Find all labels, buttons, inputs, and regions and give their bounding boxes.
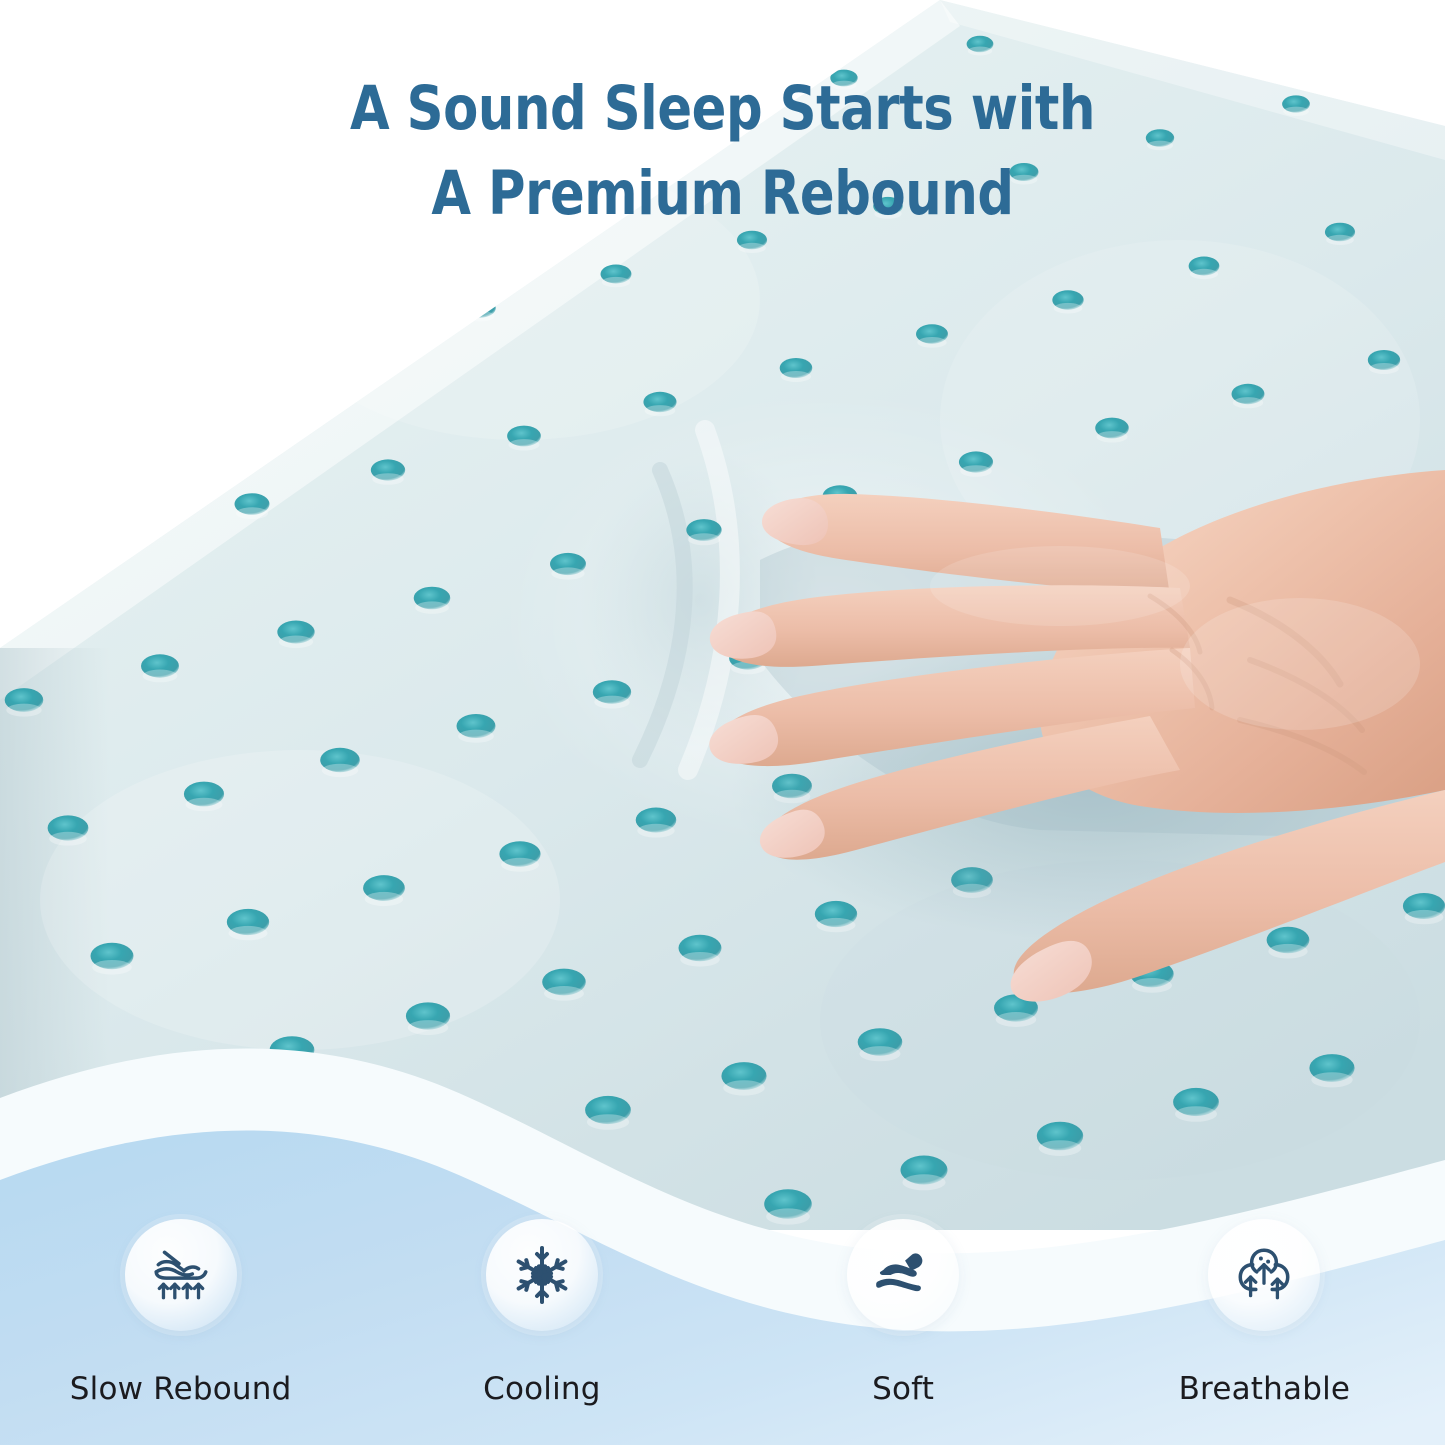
feature-icon-bubble [125, 1219, 237, 1331]
feature-label: Cooling [483, 1371, 601, 1407]
feature-icon-bubble [486, 1219, 598, 1331]
feature-item-soft[interactable]: Soft [723, 1215, 1084, 1445]
perforation-hole-rim [1369, 363, 1399, 374]
perforation-hole-rim [229, 926, 268, 940]
perforation-hole-rim [501, 858, 539, 872]
perforation-hole-rim [1283, 107, 1309, 116]
perforation-hole-rim [236, 507, 268, 519]
feature-icon-bubble [847, 1219, 959, 1331]
perforation-hole-rim [372, 473, 404, 485]
perforation-hole-rim [874, 209, 901, 219]
perforation-hole-rim [688, 533, 721, 545]
perforation-hole-rim [49, 832, 87, 846]
perforation-hole-rim [186, 798, 223, 812]
perforation-hole-rim [458, 730, 494, 743]
cotton-cloud-airflow-arrows-icon [1231, 1242, 1297, 1308]
feature-item-cooling[interactable]: Cooling [361, 1215, 722, 1445]
feature-item-slow-rebound[interactable]: Slow Rebound [0, 1215, 361, 1445]
perforation-hole-rim [92, 960, 132, 975]
feature-label: Slow Rebound [70, 1371, 292, 1407]
perforation-hole-rim [637, 824, 674, 838]
perforation-hole-rim [551, 567, 584, 579]
perforation-hole-rim [365, 892, 404, 906]
perforation-hole-rim [602, 277, 630, 287]
perforation-hole-rim [1054, 303, 1083, 314]
perforation-hole-rim [1147, 141, 1173, 151]
feature-label: Soft [872, 1371, 934, 1407]
perforation-hole-rim [1132, 978, 1172, 993]
perforation-hole-rim [143, 670, 178, 683]
perforation-hole-rim [594, 696, 629, 709]
perforation-hole-rim [279, 636, 313, 649]
open-hand-soft-icon [870, 1242, 936, 1308]
perforation-hole-rim [968, 47, 993, 56]
perforation-hole-rim [1233, 397, 1263, 408]
perforation-hole-rim [509, 439, 540, 450]
perforation-hole-rim [645, 405, 676, 416]
perforation-hole-rim [831, 81, 856, 90]
perforation-hole-rim [322, 764, 358, 777]
perforation-hole-rim [1405, 910, 1444, 924]
perforation-hole-rim [6, 704, 41, 717]
perforation-hole-rim [960, 465, 992, 477]
perforation-hole-rim [1011, 175, 1038, 185]
perforation-hole-rim [1268, 944, 1307, 959]
perforation-hole-rim [415, 601, 449, 613]
perforation-hole-rim [1097, 431, 1128, 442]
perforation-hole-rim [544, 986, 584, 1001]
perforation-hole-rim [917, 337, 946, 348]
feature-icon-bubble [1208, 1219, 1320, 1331]
product-marketing-image: A Sound Sleep Starts with A Premium Rebo… [0, 0, 1445, 1445]
perforation-hole-rim [680, 952, 720, 967]
feature-label: Breathable [1179, 1371, 1351, 1407]
perforation-hole-rim [1190, 269, 1218, 279]
bottom-panel: Slow Rebound [0, 1025, 1445, 1445]
hand-press-rebound-arrows-icon [148, 1242, 214, 1308]
perforation-hole-rim [817, 918, 856, 932]
feature-item-breathable[interactable]: Breathable [1084, 1215, 1445, 1445]
perforation-hole-rim [781, 371, 811, 382]
perforation-hole-rim [738, 243, 766, 253]
feature-list: Slow Rebound [0, 1215, 1445, 1445]
perforation-hole-rim [1326, 235, 1354, 245]
snowflake-icon [510, 1243, 574, 1307]
